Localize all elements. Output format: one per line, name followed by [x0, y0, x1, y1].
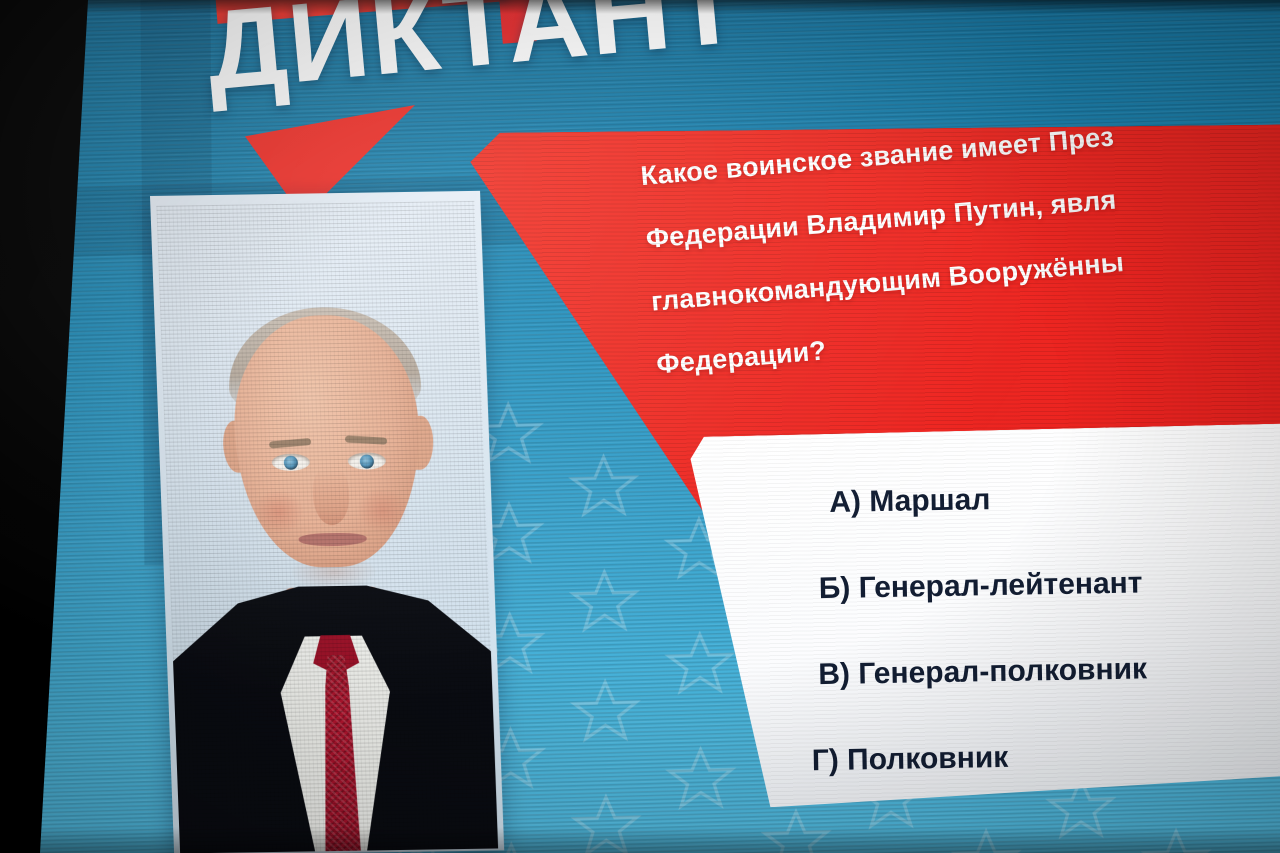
question-text: Какое воинское звание имеет През Федерац…: [638, 124, 1280, 396]
presentation-screen-photo: ДИКТАНТ Какое вои: [0, 0, 1280, 853]
answer-option-a[interactable]: А) Маршал: [829, 451, 1280, 546]
portrait-photo: [156, 201, 498, 853]
portrait-head: [230, 314, 423, 569]
answer-option-v[interactable]: В) Генерал-полковник: [818, 623, 1280, 718]
portrait-card: [150, 191, 504, 853]
portrait-cheek-right: [357, 488, 409, 533]
portrait-chin: [291, 554, 376, 589]
answers-list: А) Маршал Б) Генерал-лейтенант В) Генера…: [813, 451, 1280, 804]
answer-option-b[interactable]: Б) Генерал-лейтенант: [818, 537, 1280, 632]
answers-panel: А) Маршал Б) Генерал-лейтенант В) Генера…: [690, 423, 1280, 809]
